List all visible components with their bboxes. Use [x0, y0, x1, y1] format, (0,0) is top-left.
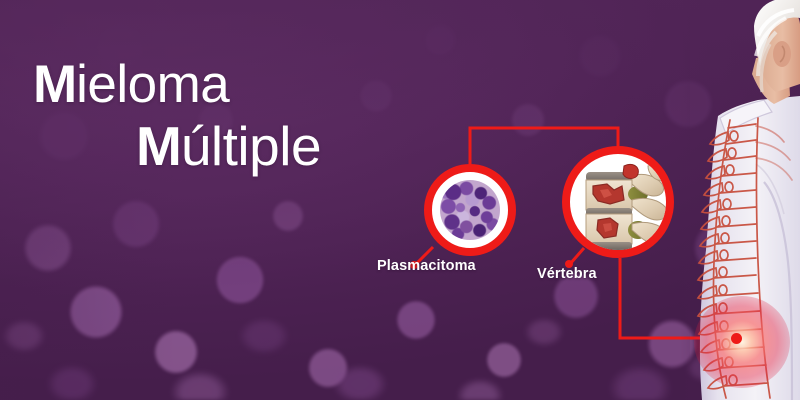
posterior-element-3	[632, 222, 667, 244]
title-line-two-cap: M	[136, 115, 181, 177]
vertebra-callout-circle[interactable]	[562, 146, 674, 258]
plasmacytoma-microscopy-image	[440, 180, 500, 240]
title-line-one-rest: ieloma	[76, 55, 229, 114]
title-line-one-cap: M	[33, 55, 76, 114]
page-title: Mieloma Múltiple	[33, 58, 321, 174]
posterior-element-2	[632, 198, 667, 220]
plasma-cell-nuclei	[440, 180, 500, 240]
vertebra-cross-section-illustration	[562, 146, 674, 258]
title-line-two-rest: últiple	[181, 115, 321, 177]
lumbar-pain-point	[731, 333, 742, 344]
title-line-one: Mieloma	[33, 58, 321, 111]
plasmacytoma-label: Plasmacitoma	[377, 258, 476, 274]
tumour-nodule	[623, 164, 638, 178]
vertebra-label: Vértebra	[537, 266, 597, 282]
lower-endplate	[586, 242, 632, 250]
title-line-two: Múltiple	[136, 119, 321, 174]
plasmacytoma-callout-circle[interactable]	[424, 164, 516, 256]
mieloma-multiple-banner: Mieloma Múltiple	[0, 0, 800, 400]
patient-ear	[773, 41, 791, 67]
